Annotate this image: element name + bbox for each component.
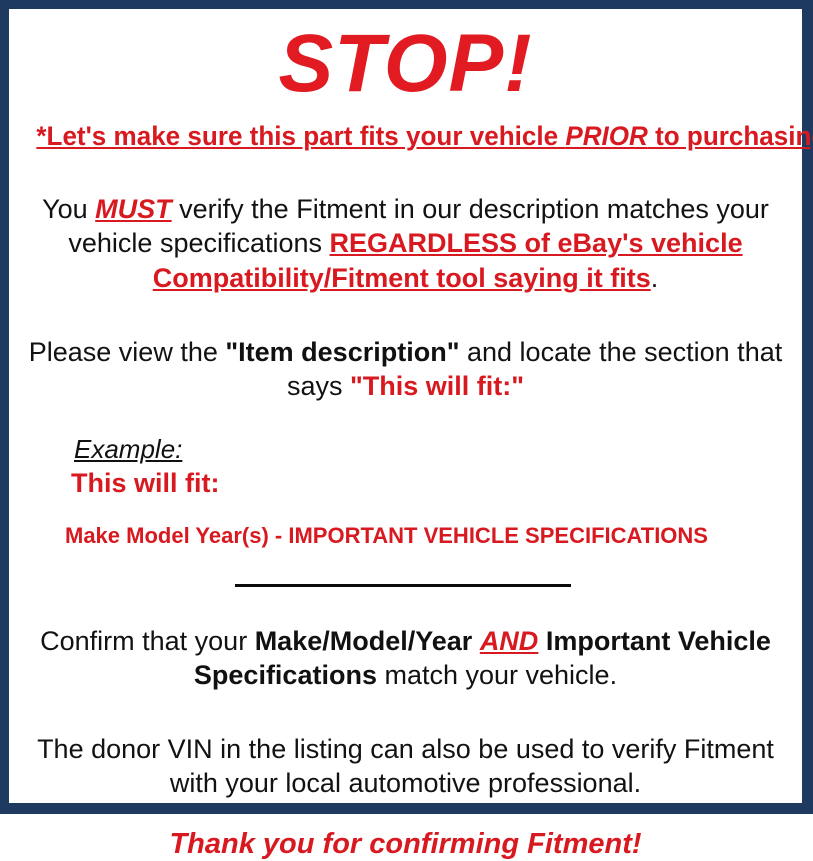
- this-will-fit-emphasis: "This will fit:": [350, 371, 524, 401]
- section-divider: [235, 584, 571, 587]
- subtitle-banner: *Let's make sure this part fits your veh…: [36, 107, 774, 152]
- subtitle-lead-text: *Let's make sure this part fits your veh…: [36, 121, 565, 151]
- paragraph-confirm: Confirm that your Make/Model/Year AND Im…: [23, 592, 788, 693]
- view-text-1: Please view the: [29, 337, 226, 367]
- example-section: Example: This will fit: Make Model Year(…: [23, 404, 788, 550]
- example-fit-heading: This will fit:: [65, 465, 788, 499]
- thank-you-line: Thank you for confirming Fitment!: [23, 801, 788, 861]
- confirm-text-2: match your vehicle.: [377, 660, 617, 690]
- paragraph-donor-vin: The donor VIN in the listing can also be…: [23, 692, 788, 801]
- subtitle-tail-text: to purchasing*: [648, 121, 813, 151]
- notice-content: STOP! *Let's make sure this part fits yo…: [9, 9, 802, 803]
- example-label: Example:: [65, 434, 788, 465]
- make-model-year-emphasis: Make/Model/Year: [255, 626, 473, 656]
- item-description-emphasis: "Item description": [225, 337, 459, 367]
- stop-heading: STOP!: [23, 9, 788, 107]
- example-spec-line: Make Model Year(s) - IMPORTANT VEHICLE S…: [65, 499, 788, 549]
- must-text-3: .: [651, 263, 659, 293]
- confirm-text-1: Confirm that your: [40, 626, 255, 656]
- paragraph-must-verify: You MUST verify the Fitment in our descr…: [23, 152, 788, 295]
- and-emphasis: AND: [480, 626, 539, 656]
- section-divider-wrap: [23, 550, 788, 592]
- must-emphasis: MUST: [95, 194, 172, 224]
- subtitle-prior-emphasis: PRIOR: [565, 121, 648, 151]
- fitment-notice-card: STOP! *Let's make sure this part fits yo…: [0, 0, 813, 814]
- confirm-space-1: [472, 626, 480, 656]
- confirm-space-2: [538, 626, 546, 656]
- paragraph-view-description: Please view the "Item description" and l…: [23, 295, 788, 404]
- must-text-1: You: [42, 194, 95, 224]
